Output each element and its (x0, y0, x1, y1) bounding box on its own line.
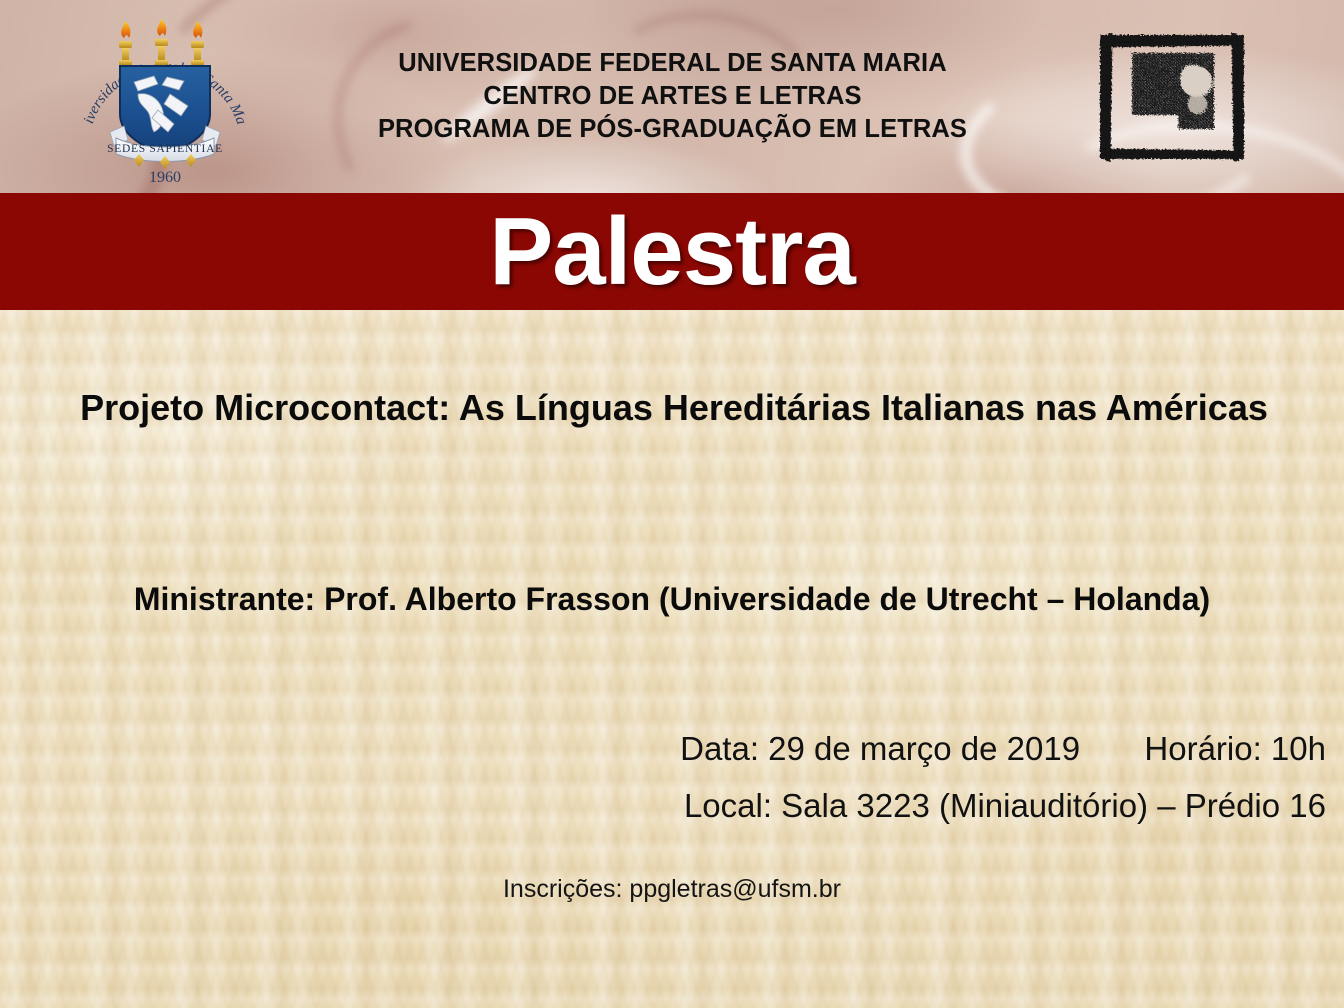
date-time-row: Data: 29 de março de 2019 Horário: 10h (326, 720, 1326, 777)
ufsm-motto-text: SEDES SAPIENTIAE (107, 143, 223, 155)
banner-title: Palestra (0, 204, 1344, 300)
signup-line: Inscrições: ppgletras@ufsm.br (0, 875, 1344, 904)
event-date: Data: 29 de março de 2019 (680, 730, 1080, 767)
shield-body (120, 66, 210, 155)
institution-line-2: CENTRO DE ARTES E LETRAS (300, 80, 1045, 113)
poster-body: Projeto Microcontact: As Línguas Heredit… (0, 310, 1344, 1008)
event-poster: Universidade Federal de Santa Maria (0, 0, 1344, 1008)
torch-group (119, 19, 204, 65)
event-time: Horário: 10h (1144, 730, 1326, 767)
ink-blob (1132, 53, 1214, 129)
ufsm-year-text: 1960 (149, 169, 181, 186)
speaker-line: Ministrante: Prof. Alberto Frasson (Univ… (22, 578, 1322, 620)
institution-title: UNIVERSIDADE FEDERAL DE SANTA MARIA CENT… (300, 47, 1045, 146)
talk-title: Projeto Microcontact: As Línguas Heredit… (60, 382, 1288, 434)
poster-header: Universidade Federal de Santa Maria (0, 0, 1344, 193)
institution-line-1: UNIVERSIDADE FEDERAL DE SANTA MARIA (300, 47, 1045, 80)
ufsm-crest-logo: Universidade Federal de Santa Maria (72, 14, 258, 186)
event-location: Local: Sala 3223 (Miniauditório) – Prédi… (326, 777, 1326, 834)
palestra-banner: Palestra (0, 193, 1344, 310)
ppgl-ink-logo (1082, 21, 1260, 176)
event-details: Data: 29 de março de 2019 Horário: 10h L… (326, 720, 1326, 834)
institution-line-3: PROGRAMA DE PÓS-GRADUAÇÃO EM LETRAS (300, 113, 1045, 146)
